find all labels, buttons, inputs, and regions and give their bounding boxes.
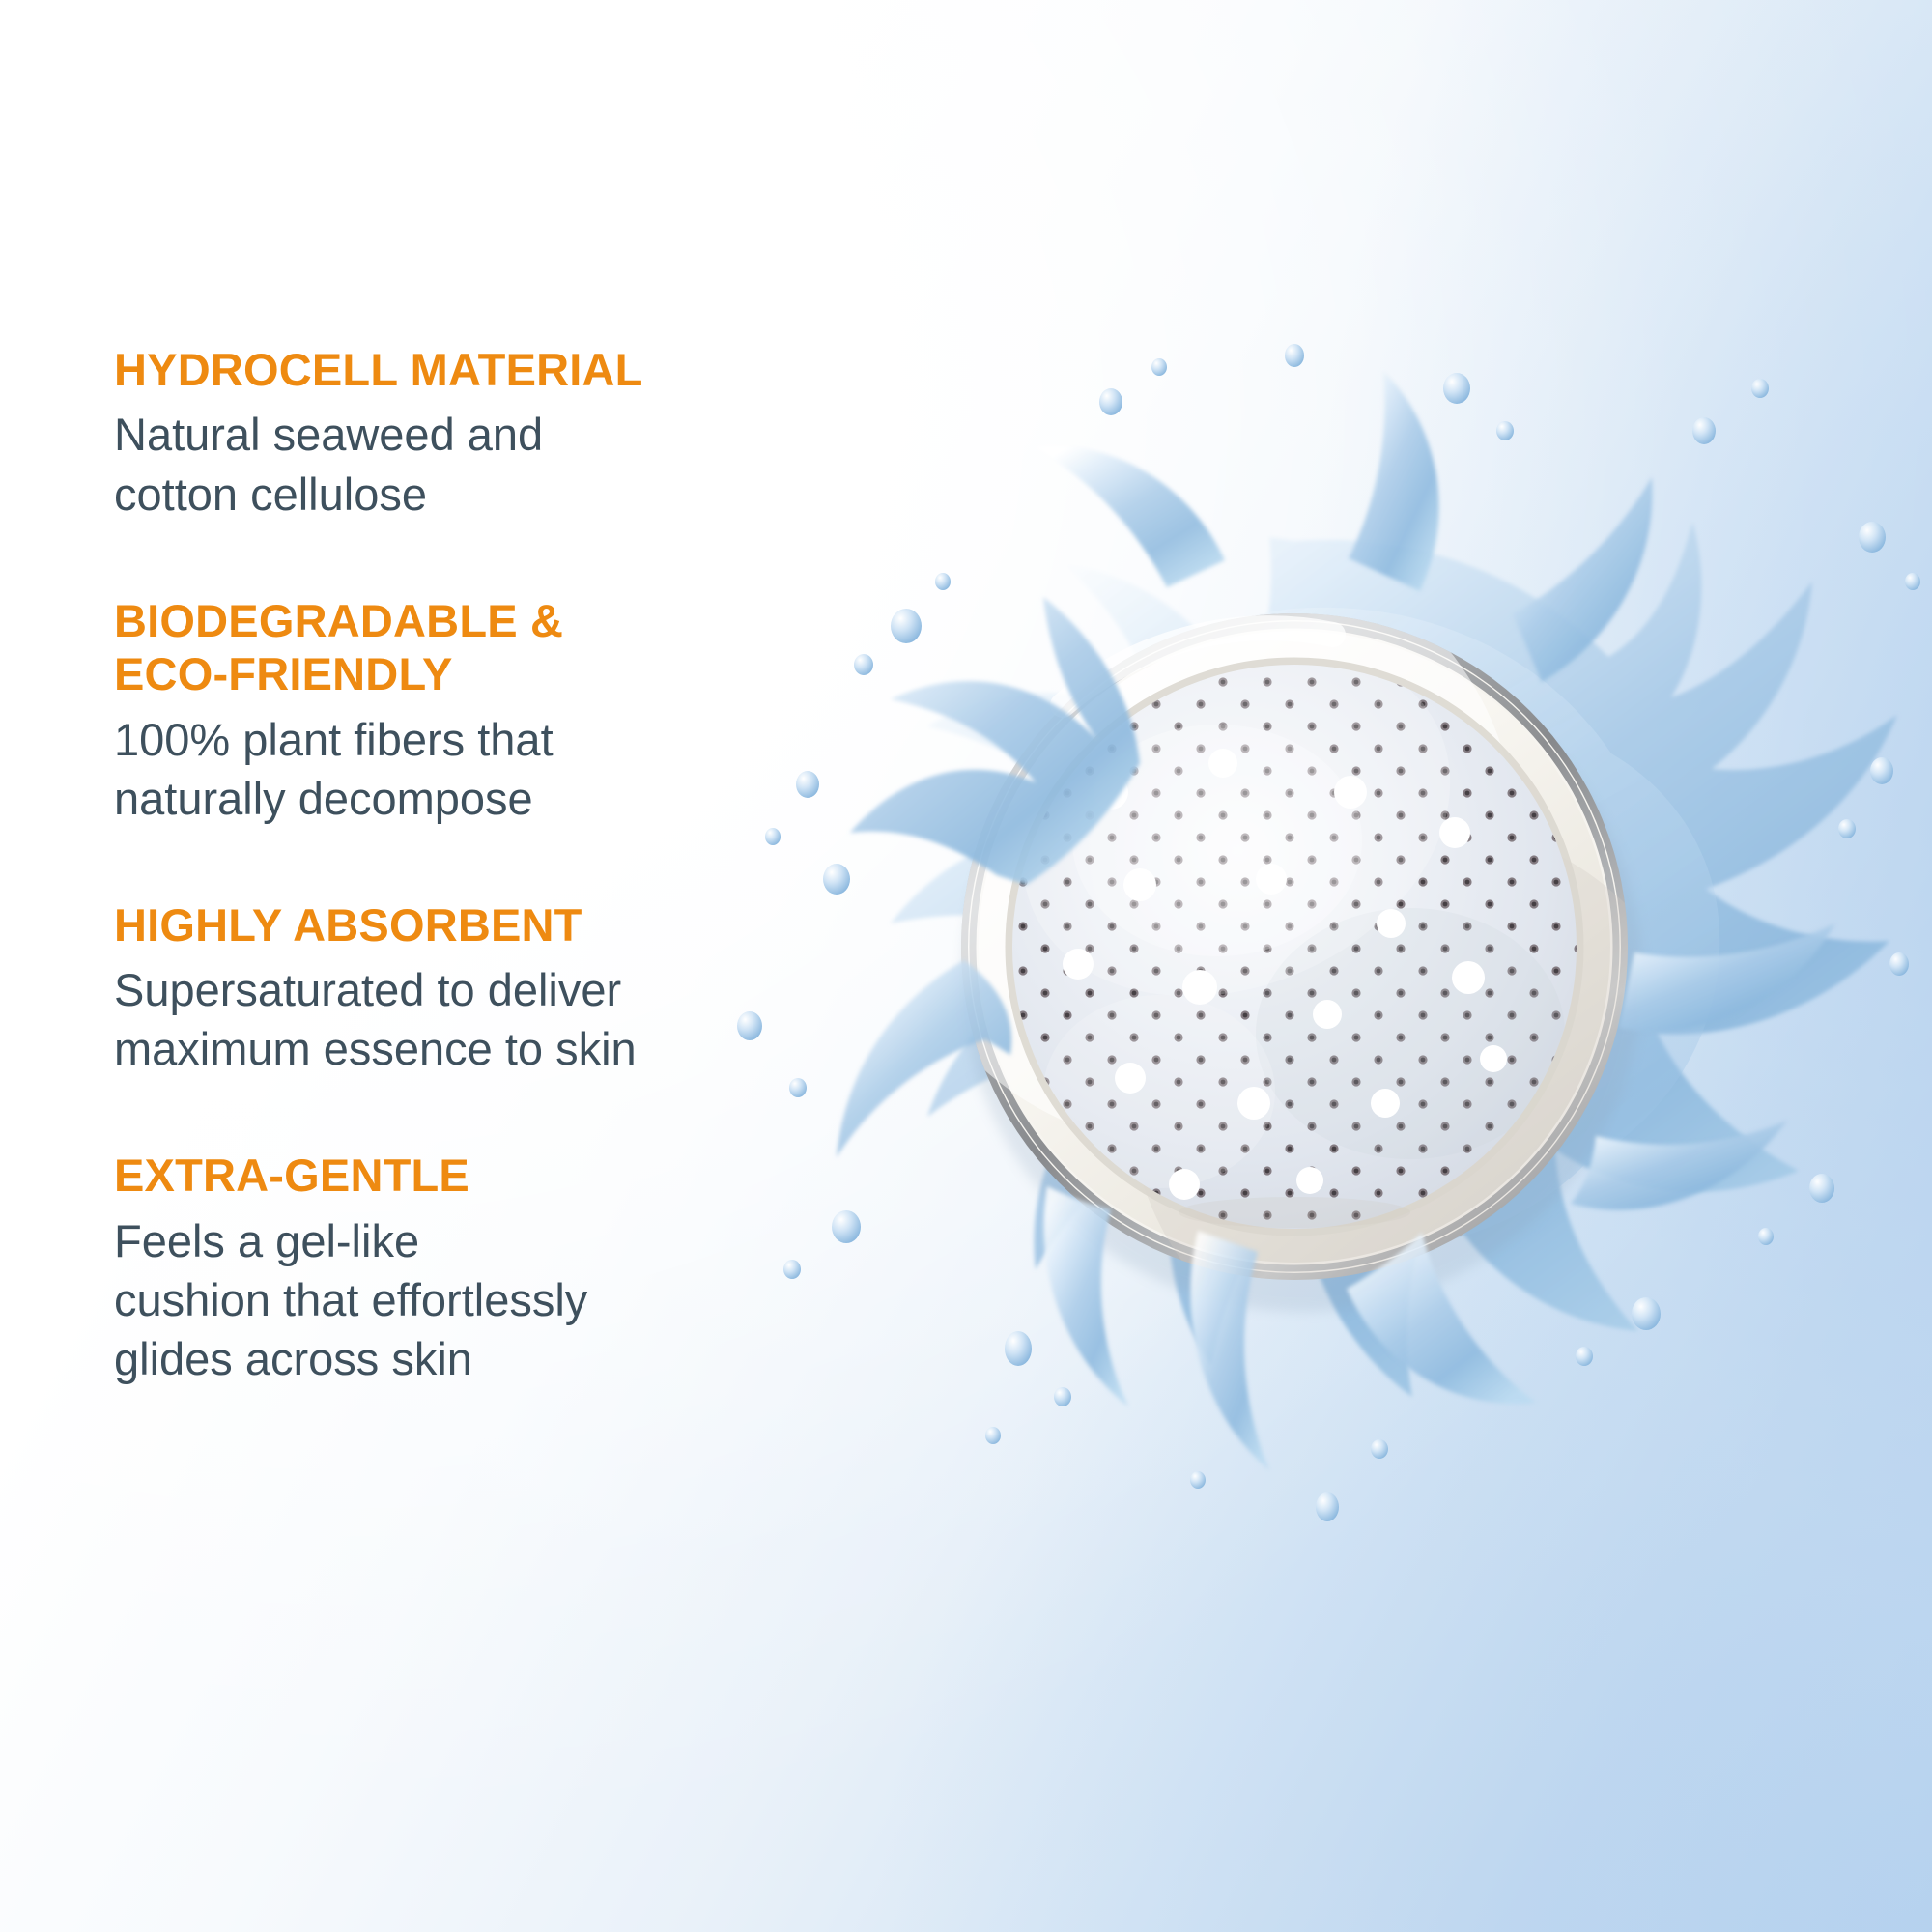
product-image — [657, 338, 1932, 1613]
infographic-canvas: HYDROCELL MATERIAL Natural seaweed and c… — [0, 0, 1932, 1932]
